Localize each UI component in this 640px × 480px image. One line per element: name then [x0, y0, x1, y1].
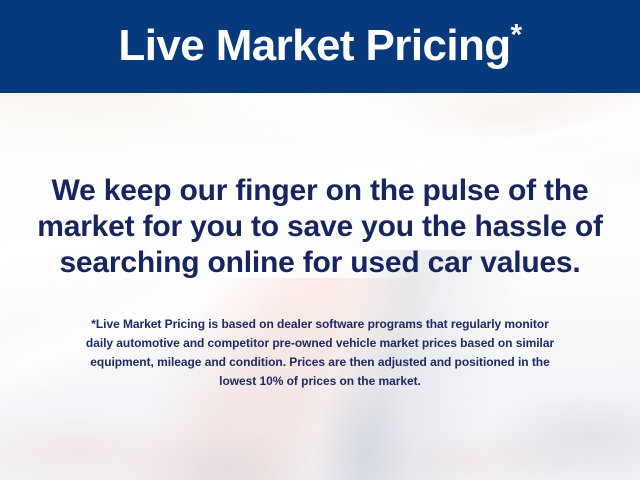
page-title-text: Live Market Pricing: [118, 21, 510, 70]
disclaimer-line-2: daily automotive and competitor pre-owne…: [22, 334, 618, 353]
headline: We keep our finger on the pulse of the m…: [0, 173, 640, 281]
disclaimer-line-3: equipment, mileage and condition. Prices…: [22, 353, 618, 372]
content-area: We keep our finger on the pulse of the m…: [0, 93, 640, 480]
headline-line-2: market for you to save you the hassle of: [0, 209, 640, 245]
disclaimer-line-4: lowest 10% of prices on the market.: [22, 372, 618, 391]
headline-line-3: searching online for used car values.: [0, 245, 640, 281]
headline-line-1: We keep our finger on the pulse of the: [0, 173, 640, 209]
page-title: Live Market Pricing*: [118, 24, 521, 68]
header-band: Live Market Pricing*: [0, 0, 640, 93]
disclaimer-text: *Live Market Pricing is based on dealer …: [22, 315, 618, 391]
live-market-pricing-banner: Live Market Pricing* We keep our finger …: [0, 0, 640, 480]
disclaimer-line-1: *Live Market Pricing is based on dealer …: [22, 315, 618, 334]
page-title-asterisk: *: [511, 18, 522, 51]
